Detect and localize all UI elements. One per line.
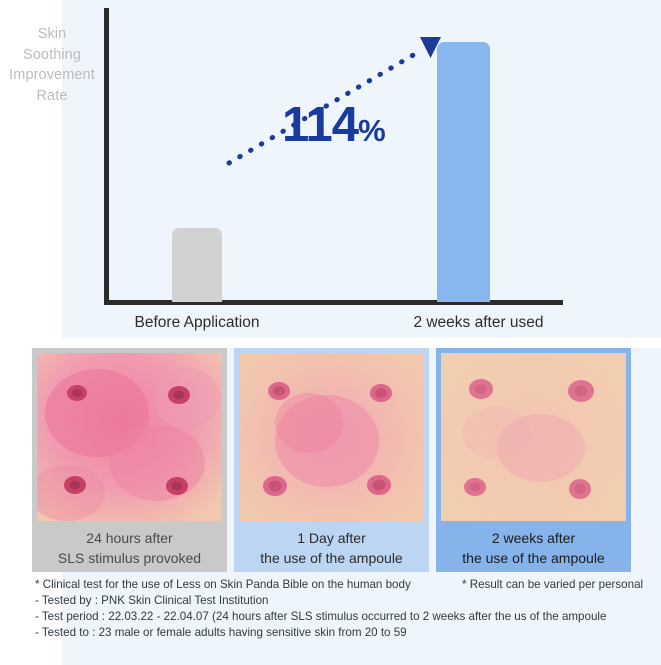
improvement-percentage-value: 114 <box>282 98 358 152</box>
x-axis-label-after: 2 weeks after used <box>367 314 590 332</box>
section-divider <box>62 338 661 348</box>
bar-chart: Skin Soothing Improvement Rate 114% Befo… <box>0 0 661 338</box>
photo-panel-2-weeks: 2 weeks after the use of the ampoule <box>436 348 631 572</box>
chart-y-axis-line <box>104 8 109 305</box>
chart-y-axis-label: Skin Soothing Improvement Rate <box>4 24 100 106</box>
photo-caption-24-hours: 24 hours after SLS stimulus provoked <box>32 528 227 568</box>
note-line-1: * Clinical test for the use of Less on S… <box>35 578 411 591</box>
infographic-root: Skin Soothing Improvement Rate 114% Befo… <box>0 0 661 665</box>
x-axis-label-before: Before Application <box>96 314 298 332</box>
skin-photo-2-weeks <box>441 353 626 521</box>
skin-photo-1-day <box>239 353 424 521</box>
note-line-3: - Test period : 22.03.22 - 22.04.07 (24 … <box>35 610 606 623</box>
photo-panel-1-day: 1 Day after the use of the ampoule <box>234 348 429 572</box>
improvement-percentage: 114% <box>282 101 386 155</box>
bar-before-application <box>172 228 222 302</box>
photo-panel-24-hours: 24 hours after SLS stimulus provoked <box>32 348 227 572</box>
photo-caption-2-weeks: 2 weeks after the use of the ampoule <box>436 528 631 568</box>
improvement-percentage-symbol: % <box>358 113 386 148</box>
note-line-4: - Tested to : 23 male or female adults h… <box>35 626 407 639</box>
clinical-test-notes: * Clinical test for the use of Less on S… <box>0 578 661 665</box>
note-line-2: - Tested by : PNK Skin Clinical Test Ins… <box>35 594 268 607</box>
photo-comparison-row: 24 hours after SLS stimulus provoked <box>0 348 661 575</box>
skin-photo-24-hours <box>37 353 222 521</box>
note-disclaimer: * Result can be varied per personal <box>462 578 643 591</box>
photo-caption-1-day: 1 Day after the use of the ampoule <box>234 528 429 568</box>
